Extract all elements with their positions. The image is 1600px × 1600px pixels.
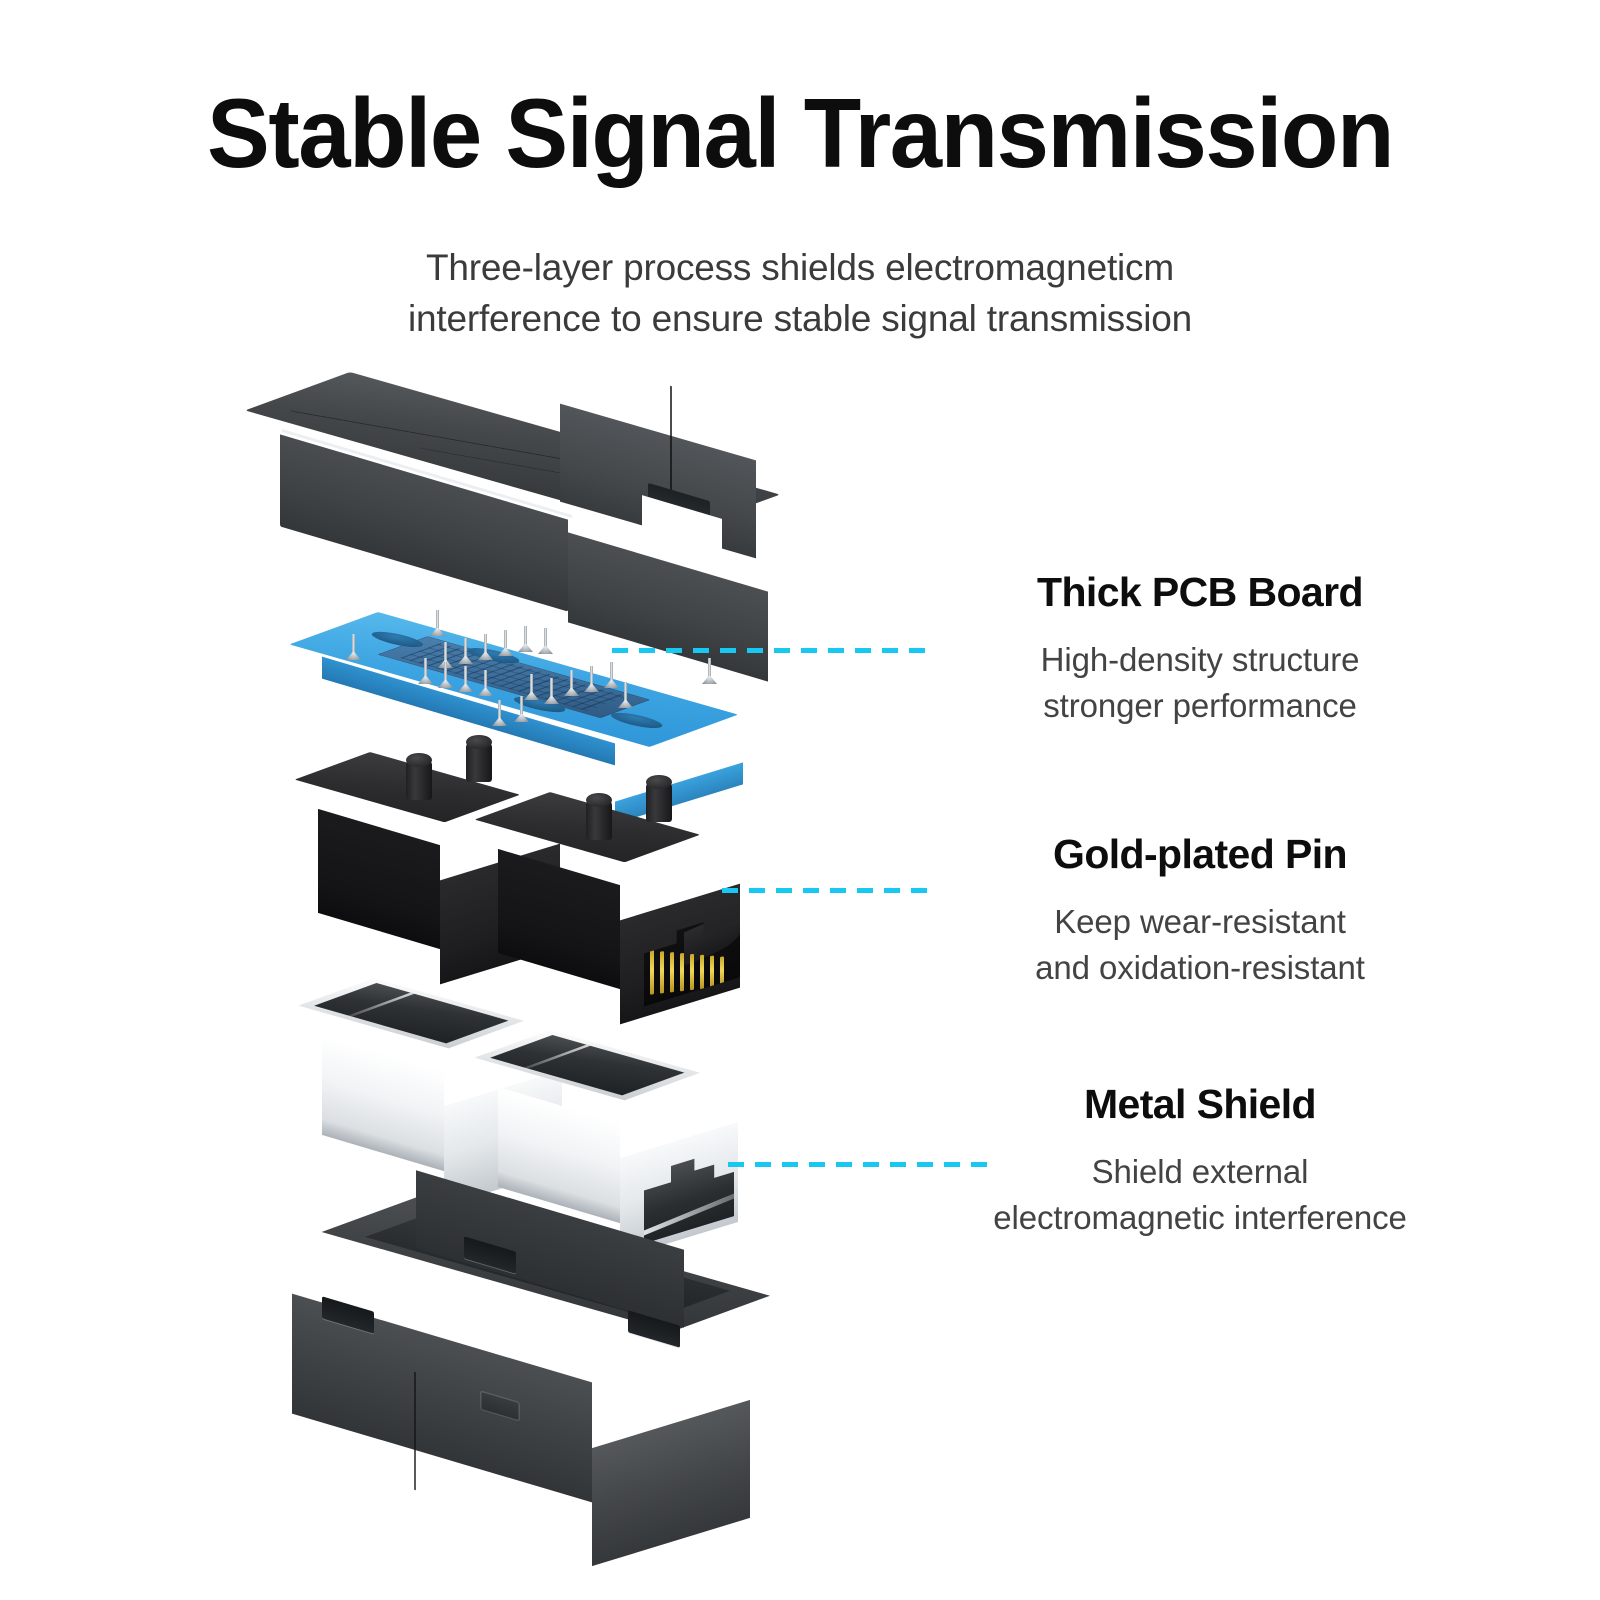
- pcb-pin: [482, 634, 489, 660]
- pcb-pin: [350, 634, 357, 660]
- callout-line-pin: [722, 888, 936, 893]
- pcb-hole: [604, 710, 670, 730]
- pcb-pin: [462, 638, 469, 664]
- pcb-pin: [518, 696, 525, 722]
- part-metal-shield-right: [498, 1030, 713, 1210]
- callout-title-gold-plated-pin: Gold-plated Pin: [1000, 832, 1400, 877]
- jack-right-post: [646, 782, 672, 822]
- jack-right-post: [586, 800, 612, 840]
- jack-right-front-face: [498, 849, 620, 989]
- pcb-pin: [706, 658, 713, 684]
- shield-left-front-face: [322, 1035, 444, 1171]
- shield-right-cavity: [490, 1035, 684, 1095]
- callout-desc-line-1: Keep wear-resistant: [1054, 903, 1346, 940]
- pcb-pin: [588, 666, 595, 692]
- infographic-page: Stable Signal Transmission Three-layer p…: [0, 0, 1600, 1600]
- pcb-pin: [608, 662, 615, 688]
- pcb-pin: [502, 630, 509, 656]
- pcb-pin: [528, 674, 535, 700]
- callout-gold-plated-pin: Gold-plated Pin Keep wear-resistant and …: [1000, 832, 1400, 990]
- callout-thick-pcb-board: Thick PCB Board High-density structure s…: [1000, 570, 1400, 728]
- bottom-housing-front-face: [292, 1294, 592, 1503]
- bottom-housing-right-face: [592, 1400, 750, 1566]
- callout-desc-line-1: High-density structure: [1041, 641, 1360, 678]
- pcb-pin: [422, 658, 429, 684]
- pcb-pin: [568, 670, 575, 696]
- pcb-pin: [434, 610, 441, 636]
- callout-line-pcb: [612, 648, 934, 653]
- callout-metal-shield: Metal Shield Shield external electromagn…: [960, 1082, 1440, 1240]
- callout-desc-line-2: and oxidation-resistant: [1035, 949, 1365, 986]
- callout-desc-line-2: stronger performance: [1043, 687, 1356, 724]
- pcb-pin: [548, 678, 555, 704]
- callout-title-thick-pcb-board: Thick PCB Board: [1000, 570, 1400, 615]
- pcb-pin: [462, 666, 469, 692]
- part-pcb-board: [322, 612, 742, 732]
- jack-left-post: [466, 742, 492, 782]
- callout-desc-line-1: Shield external: [1092, 1153, 1309, 1190]
- callout-line-shield: [728, 1162, 990, 1167]
- callout-desc-thick-pcb-board: High-density structure stronger performa…: [1000, 615, 1400, 728]
- callout-desc-line-2: electromagnetic interference: [993, 1199, 1407, 1236]
- bottom-housing-seam: [414, 1372, 416, 1491]
- part-rj45-jack-right: [498, 792, 708, 977]
- jack-left-post: [406, 760, 432, 800]
- shield-left-cavity: [314, 983, 508, 1043]
- jack-left-front-face: [318, 809, 440, 949]
- exploded-diagram: [0, 0, 1600, 1600]
- pcb-pin: [496, 700, 503, 726]
- pcb-pin: [542, 628, 549, 654]
- part-bottom-housing: [292, 1196, 792, 1536]
- pcb-pin: [482, 670, 489, 696]
- part-top-housing: [268, 372, 788, 587]
- callout-desc-gold-plated-pin: Keep wear-resistant and oxidation-resist…: [1000, 877, 1400, 990]
- part-rj45-jack-left: [318, 752, 528, 937]
- callout-title-metal-shield: Metal Shield: [960, 1082, 1440, 1127]
- pcb-pin: [442, 662, 449, 688]
- pcb-pin: [622, 682, 629, 708]
- callout-desc-metal-shield: Shield external electromagnetic interfer…: [960, 1127, 1440, 1240]
- pcb-pin: [522, 626, 529, 652]
